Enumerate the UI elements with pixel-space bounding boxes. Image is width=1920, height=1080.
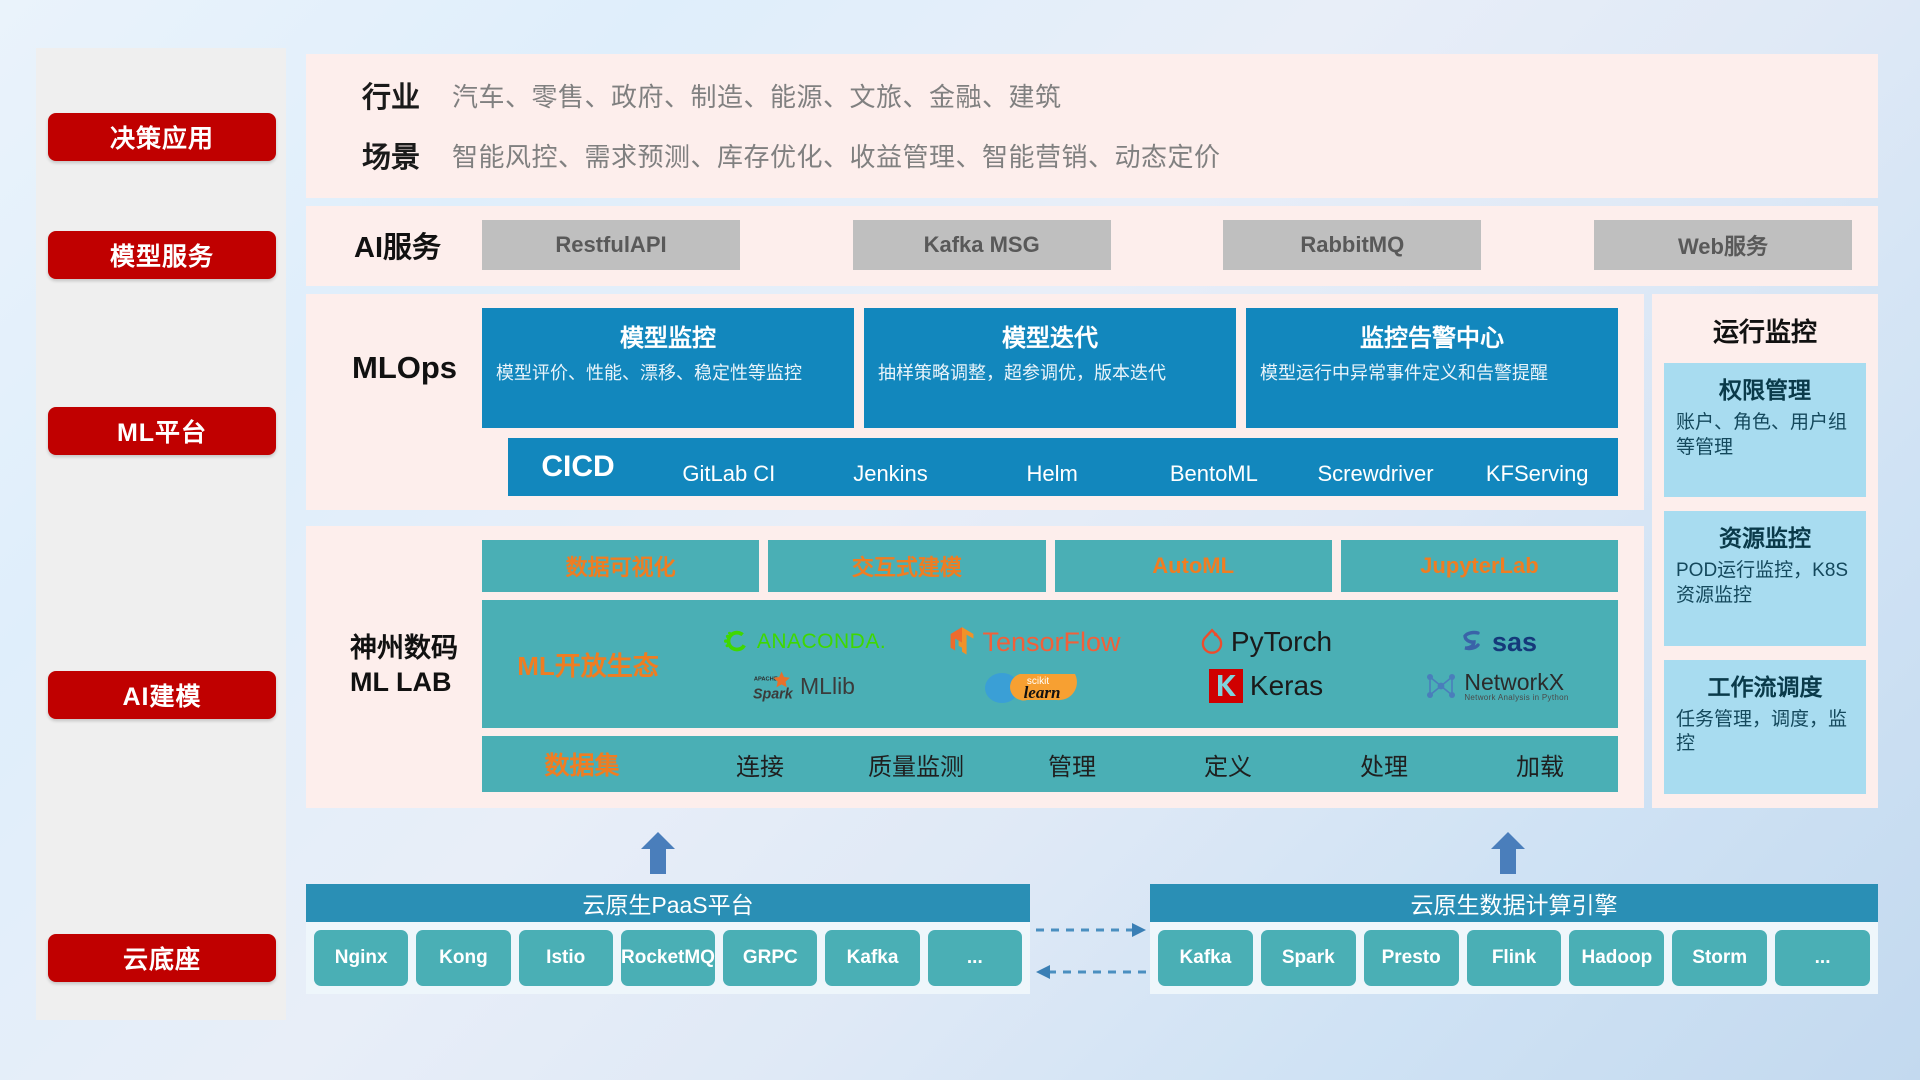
- stage-chip-label: 云底座: [123, 940, 201, 976]
- service-box-label: Web服务: [1678, 229, 1768, 261]
- cicd-item-gitlab-ci[interactable]: GitLab CI: [648, 447, 810, 488]
- up-arrow-icon-paas: [641, 832, 675, 874]
- mlops-card-desc: 抽样策略调整，超参调优，版本迭代: [878, 361, 1222, 385]
- up-arrow-icon-data-engine: [1491, 832, 1525, 874]
- cloud-tag-grpc[interactable]: GRPC: [723, 930, 817, 986]
- stage-chip-label: ML平台: [117, 413, 207, 449]
- platform-left-stack: MLOps 模型监控 模型评价、性能、漂移、稳定性等监控 模型迭代 抽样策略调整…: [306, 294, 1644, 808]
- monitor-card-title: 权限管理: [1676, 371, 1854, 405]
- sas-icon: [1456, 628, 1486, 656]
- main-column: 行业 汽车、零售、政府、制造、能源、文旅、金融、建筑 场景 智能风控、需求预测、…: [306, 54, 1878, 808]
- cloud-tag-kong[interactable]: Kong: [416, 930, 510, 986]
- service-box-restfulapi[interactable]: RestfulAPI: [482, 220, 740, 270]
- mlops-card-model-iteration[interactable]: 模型迭代 抽样策略调整，超参调优，版本迭代: [864, 308, 1236, 428]
- dataset-item-list: 连接 质量监测 管理 定义 处理 加载: [682, 747, 1618, 782]
- cloud-data-engine-title: 云原生数据计算引擎: [1150, 884, 1878, 922]
- cicd-item-list: GitLab CI Jenkins Helm BentoML Screwdriv…: [648, 447, 1618, 488]
- tensorflow-logo-item[interactable]: TensorFlow: [948, 626, 1120, 658]
- service-box-label: Kafka MSG: [924, 232, 1040, 258]
- service-box-rabbitmq[interactable]: RabbitMQ: [1223, 220, 1481, 270]
- service-box-web-service[interactable]: Web服务: [1594, 220, 1852, 270]
- cloud-base-region: 云原生PaaS平台 Nginx Kong Istio RocketMQ GRPC…: [306, 884, 1878, 1016]
- tool-box-interactive-modeling[interactable]: 交互式建模: [768, 540, 1045, 592]
- cloud-data-engine-column: 云原生数据计算引擎 Kafka Spark Presto Flink Hadoo…: [1150, 884, 1878, 994]
- mlops-card-desc: 模型评价、性能、漂移、稳定性等监控: [496, 361, 840, 385]
- cloud-tag-spark[interactable]: Spark: [1261, 930, 1356, 986]
- keras-icon: [1208, 668, 1244, 704]
- networkx-sublabel: Network Analysis in Python: [1464, 694, 1568, 702]
- scenario-label: 场景: [332, 134, 452, 176]
- cloud-tag-kafka[interactable]: Kafka: [825, 930, 919, 986]
- svg-text:learn: learn: [1023, 683, 1060, 702]
- cloud-paas-title: 云原生PaaS平台: [306, 884, 1030, 922]
- modeling-label: 神州数码 ML LAB: [332, 540, 482, 792]
- anaconda-label: ANACONDA.: [757, 630, 886, 654]
- industry-row: 行业 汽车、零售、政府、制造、能源、文旅、金融、建筑: [332, 74, 1852, 116]
- sas-logo-item[interactable]: sas: [1456, 627, 1537, 658]
- spark-mllib-logo-item[interactable]: APACHE Spark MLlib: [752, 669, 855, 703]
- cloud-data-engine-tag-list: Kafka Spark Presto Flink Hadoop Storm ..…: [1150, 922, 1878, 994]
- cloud-paas-column: 云原生PaaS平台 Nginx Kong Istio RocketMQ GRPC…: [306, 884, 1030, 994]
- mlops-card-desc: 模型运行中异常事件定义和告警提醒: [1260, 361, 1604, 385]
- cloud-tag-storm[interactable]: Storm: [1672, 930, 1767, 986]
- cicd-bar: CICD GitLab CI Jenkins Helm BentoML Scre…: [508, 438, 1618, 496]
- architecture-diagram: 决策应用 模型服务 ML平台 AI建模 云底座 行业 汽车、零售、政府、制造、能…: [0, 0, 1920, 1080]
- runtime-monitor-panel: 运行监控 权限管理 账户、角色、用户组等管理 资源监控 POD运行监控，K8S资…: [1652, 294, 1878, 808]
- dataset-label: 数据集: [482, 746, 682, 782]
- svg-text:APACHE: APACHE: [754, 676, 778, 682]
- mllib-label: MLlib: [800, 673, 855, 700]
- cicd-item-jenkins[interactable]: Jenkins: [810, 447, 972, 488]
- mlops-card-model-monitoring[interactable]: 模型监控 模型评价、性能、漂移、稳定性等监控: [482, 308, 854, 428]
- bidirectional-dashed-arrows-icon: [1030, 902, 1152, 998]
- monitor-card-desc: 任务管理，调度，监控: [1676, 708, 1854, 757]
- service-box-label: RabbitMQ: [1300, 232, 1404, 258]
- scenario-value: 智能风控、需求预测、库存优化、收益管理、智能营销、动态定价: [452, 137, 1221, 174]
- tensorflow-label: TensorFlow: [982, 627, 1120, 658]
- stage-chip-label: 决策应用: [110, 119, 214, 155]
- runtime-monitor-title: 运行监控: [1664, 312, 1866, 349]
- modeling-label-line2: ML LAB: [350, 666, 458, 700]
- cicd-item-helm[interactable]: Helm: [971, 447, 1133, 488]
- pytorch-logo-item[interactable]: PyTorch: [1199, 626, 1332, 658]
- modeling-band: 神州数码 ML LAB 数据可视化 交互式建模 AutoML JupyterLa…: [306, 526, 1644, 808]
- cloud-tag-istio[interactable]: Istio: [519, 930, 613, 986]
- cloud-tag-rocketmq[interactable]: RocketMQ: [621, 930, 715, 986]
- cloud-tag-nginx[interactable]: Nginx: [314, 930, 408, 986]
- stage-chip-decision-application[interactable]: 决策应用: [48, 113, 276, 161]
- ai-service-band: AI服务 RestfulAPI Kafka MSG RabbitMQ Web服务: [306, 206, 1878, 286]
- pytorch-label: PyTorch: [1231, 626, 1332, 658]
- dataset-item-quality-monitoring[interactable]: 质量监测: [838, 747, 994, 782]
- cloud-tag-more[interactable]: ...: [1775, 930, 1870, 986]
- keras-logo-item[interactable]: Keras: [1208, 668, 1323, 704]
- service-box-label: RestfulAPI: [555, 232, 666, 258]
- networkx-icon: [1424, 669, 1458, 703]
- spark-icon: APACHE Spark: [752, 669, 794, 703]
- mlops-card-list: 模型监控 模型评价、性能、漂移、稳定性等监控 模型迭代 抽样策略调整，超参调优，…: [482, 308, 1618, 428]
- stage-chip-cloud-base[interactable]: 云底座: [48, 934, 276, 982]
- industry-value: 汽车、零售、政府、制造、能源、文旅、金融、建筑: [452, 77, 1062, 114]
- mlops-label: MLOps: [332, 308, 482, 428]
- cloud-tag-hadoop[interactable]: Hadoop: [1569, 930, 1664, 986]
- networkx-logo-item[interactable]: NetworkX Network Analysis in Python: [1424, 669, 1568, 703]
- industry-label: 行业: [332, 74, 452, 116]
- tool-box-data-visualization[interactable]: 数据可视化: [482, 540, 759, 592]
- cloud-tag-kafka[interactable]: Kafka: [1158, 930, 1253, 986]
- dataset-item-definition[interactable]: 定义: [1150, 747, 1306, 782]
- mlops-card-title: 模型迭代: [878, 318, 1222, 353]
- cloud-tag-more[interactable]: ...: [928, 930, 1022, 986]
- tool-box-jupyterlab[interactable]: JupyterLab: [1341, 540, 1618, 592]
- ai-service-label: AI服务: [332, 224, 482, 266]
- platform-region: MLOps 模型监控 模型评价、性能、漂移、稳定性等监控 模型迭代 抽样策略调整…: [306, 294, 1878, 808]
- dataset-item-loading[interactable]: 加载: [1462, 747, 1618, 782]
- anaconda-logo-item[interactable]: ANACONDA.: [721, 627, 886, 657]
- svg-text:Spark: Spark: [753, 686, 794, 702]
- application-band: 行业 汽车、零售、政府、制造、能源、文旅、金融、建筑 场景 智能风控、需求预测、…: [306, 54, 1878, 198]
- monitor-card-title: 工作流调度: [1676, 668, 1854, 702]
- mlops-card-title: 模型监控: [496, 318, 840, 353]
- sas-label: sas: [1492, 627, 1537, 658]
- stage-chip-label: 模型服务: [110, 237, 214, 273]
- keras-label: Keras: [1250, 670, 1323, 702]
- cloud-paas-tag-list: Nginx Kong Istio RocketMQ GRPC Kafka ...: [306, 922, 1030, 994]
- cicd-title: CICD: [508, 438, 648, 496]
- anaconda-icon: [721, 627, 751, 657]
- service-box-kafka-msg[interactable]: Kafka MSG: [853, 220, 1111, 270]
- monitor-card-resource[interactable]: 资源监控 POD运行监控，K8S资源监控: [1664, 511, 1866, 645]
- monitor-card-desc: 账户、角色、用户组等管理: [1676, 411, 1854, 460]
- cicd-item-screwdriver[interactable]: Screwdriver: [1295, 447, 1457, 488]
- tool-box-automl[interactable]: AutoML: [1055, 540, 1332, 592]
- ml-ecosystem-panel: ML开放生态 ANACONDA.: [482, 600, 1618, 728]
- tensorflow-icon: [948, 626, 976, 658]
- cicd-item-kfserving[interactable]: KFServing: [1456, 447, 1618, 488]
- networkx-label: NetworkX: [1464, 671, 1568, 694]
- scenario-row: 场景 智能风控、需求预测、库存优化、收益管理、智能营销、动态定价: [332, 134, 1852, 176]
- cloud-tag-flink[interactable]: Flink: [1467, 930, 1562, 986]
- modeling-stack: 数据可视化 交互式建模 AutoML JupyterLab ML开放生态: [482, 540, 1618, 792]
- ai-service-list: RestfulAPI Kafka MSG RabbitMQ Web服务: [482, 220, 1852, 270]
- stage-chip-model-service[interactable]: 模型服务: [48, 231, 276, 279]
- monitor-card-permission[interactable]: 权限管理 账户、角色、用户组等管理: [1664, 363, 1866, 497]
- scikit-learn-logo-item[interactable]: scikit learn: [980, 664, 1090, 708]
- monitor-card-desc: POD运行监控，K8S资源监控: [1676, 559, 1854, 608]
- scikit-learn-icon: scikit learn: [980, 664, 1090, 708]
- ml-ecosystem-label: ML开放生态: [488, 646, 688, 683]
- dataset-row: 数据集 连接 质量监测 管理 定义 处理 加载: [482, 736, 1618, 792]
- stage-chip-ml-platform[interactable]: ML平台: [48, 407, 276, 455]
- dataset-item-connect[interactable]: 连接: [682, 747, 838, 782]
- mlops-card-title: 监控告警中心: [1260, 318, 1604, 353]
- stage-chip-label: AI建模: [122, 677, 201, 713]
- cloud-tag-presto[interactable]: Presto: [1364, 930, 1459, 986]
- dataset-item-processing[interactable]: 处理: [1306, 747, 1462, 782]
- dataset-item-management[interactable]: 管理: [994, 747, 1150, 782]
- cicd-item-bentoml[interactable]: BentoML: [1133, 447, 1295, 488]
- stage-rail: [36, 48, 286, 1020]
- modeling-label-line1: 神州数码: [350, 632, 458, 666]
- mlops-card-alert-center[interactable]: 监控告警中心 模型运行中异常事件定义和告警提醒: [1246, 308, 1618, 428]
- stage-chip-ai-modeling[interactable]: AI建模: [48, 671, 276, 719]
- mlops-band: MLOps 模型监控 模型评价、性能、漂移、稳定性等监控 模型迭代 抽样策略调整…: [306, 294, 1644, 510]
- monitor-card-title: 资源监控: [1676, 519, 1854, 553]
- pytorch-icon: [1199, 627, 1225, 657]
- ml-ecosystem-logo-grid: ANACONDA. TensorFlow: [688, 620, 1612, 708]
- modeling-tool-row: 数据可视化 交互式建模 AutoML JupyterLab: [482, 540, 1618, 592]
- monitor-card-workflow[interactable]: 工作流调度 任务管理，调度，监控: [1664, 660, 1866, 794]
